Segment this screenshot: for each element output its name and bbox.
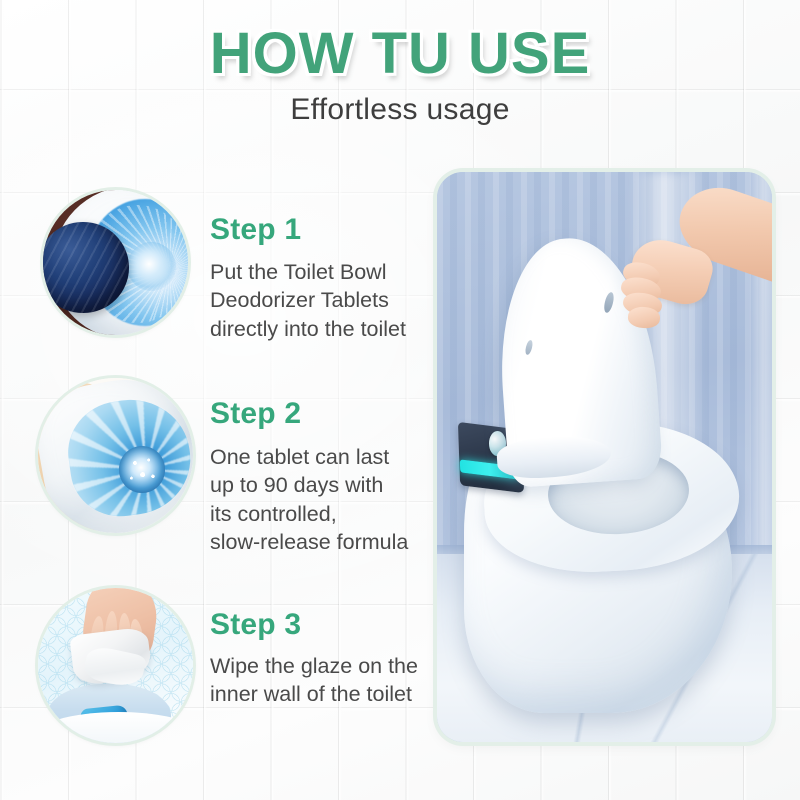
step-2-illustration [38,378,193,533]
step-1-image [43,190,188,335]
water-bubbles [122,448,165,491]
product-photo-panel [437,172,772,742]
page-subtitle: Effortless usage [0,93,800,127]
page-title: HOW TU USE [0,24,800,85]
step-2-body: One tablet can last up to 90 days with i… [210,443,454,557]
poster-canvas: HOW TU USE Effortless usage Step 1 Put t… [0,0,800,800]
step-1-body: Put the Toilet Bowl Deodorizer Tablets d… [210,258,450,343]
step-3-heading: Step 3 [210,608,301,642]
step-3-image [38,588,193,743]
step-3-illustration [38,588,193,743]
step-2-heading: Step 2 [210,397,301,431]
step-1-heading: Step 1 [210,213,301,247]
deodorizer-tablet [43,222,129,313]
step-3-body: Wipe the glaze on the inner wall of the … [210,652,450,709]
step-2-image [38,378,193,533]
step-1-illustration [43,190,188,335]
